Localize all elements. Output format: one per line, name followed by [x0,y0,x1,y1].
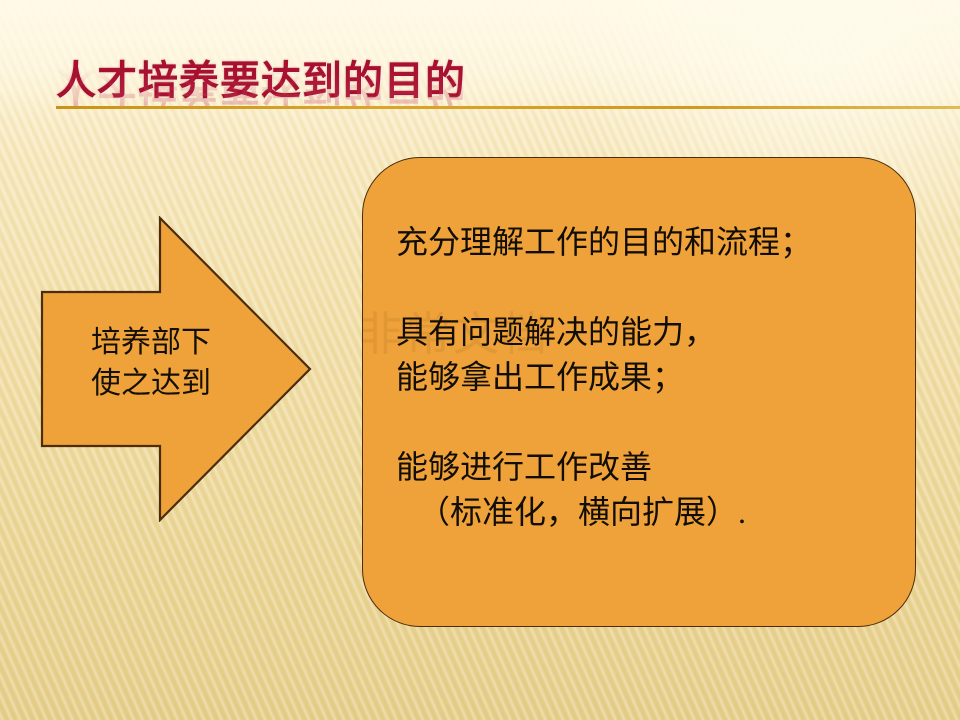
slide-title: 人才培养要达到的目的 [56,58,916,104]
objective-line: 具有问题解决的能力， [396,310,899,355]
objective-item: 能够进行工作改善 （标准化，横向扩展）. [396,445,899,535]
objective-line: 能够拿出工作成果； [396,355,899,400]
objective-line: （标准化，横向扩展）. [396,490,899,535]
objective-item: 充分理解工作的目的和流程； [396,220,899,265]
arrow-label-line-2: 使之达到 [46,363,256,404]
slide-canvas: 人才培养要达到的目的 人才培养要达到的目的 培养部下 使之达到 非常文档 充分理… [0,0,960,720]
arrow-label-line-1: 培养部下 [46,322,256,363]
objective-line: 充分理解工作的目的和流程； [396,220,899,265]
objective-item: 具有问题解决的能力， 能够拿出工作成果； [396,310,899,400]
objective-line: 能够进行工作改善 [396,445,899,490]
arrow-label: 培养部下 使之达到 [46,322,256,404]
right-arrow-shape[interactable]: 培养部下 使之达到 [40,216,312,522]
objectives-list: 充分理解工作的目的和流程； 具有问题解决的能力， 能够拿出工作成果； 能够进行工… [396,220,899,535]
objectives-panel[interactable]: 非常文档 充分理解工作的目的和流程； 具有问题解决的能力， 能够拿出工作成果； … [362,157,916,627]
title-underline-rule [56,106,960,109]
